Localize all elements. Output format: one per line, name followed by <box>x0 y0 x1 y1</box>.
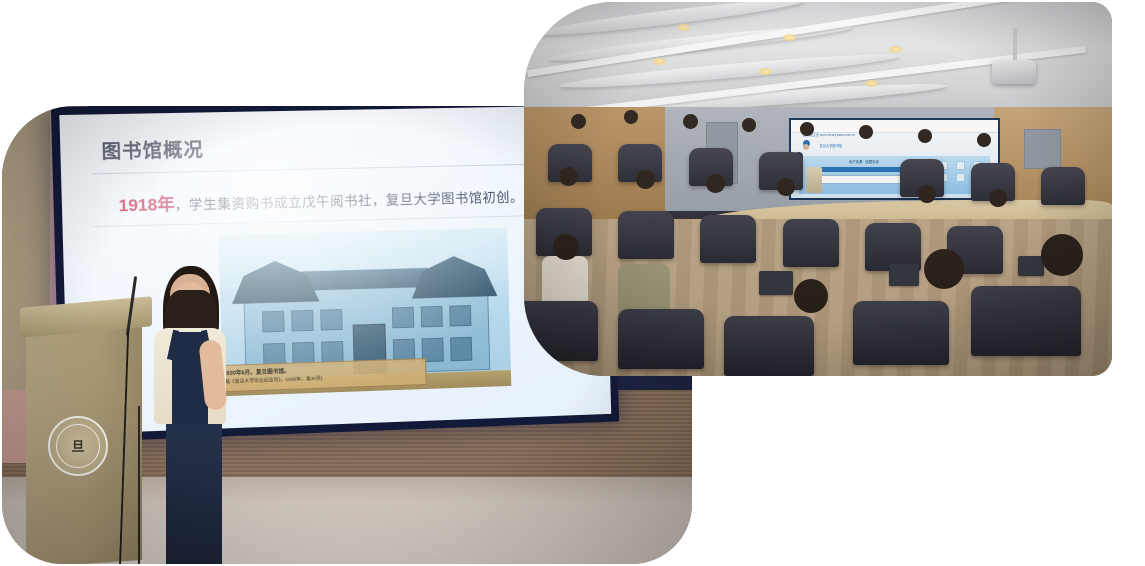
presenter-skirt <box>166 424 222 564</box>
slide-divider-lower <box>93 214 584 227</box>
audience-member <box>977 133 991 147</box>
website-logo-text: 复旦大学图书馆 <box>820 143 842 148</box>
projector-mount <box>1013 28 1017 62</box>
laptop <box>889 264 919 286</box>
audience-member-front-head <box>794 279 828 313</box>
building-window <box>291 310 314 332</box>
auditorium-seat-front <box>524 301 598 361</box>
ceiling-projector <box>992 60 1036 84</box>
audience-member <box>683 114 698 129</box>
auditorium-ceiling <box>524 2 1112 114</box>
ceiling-downlight <box>889 46 902 53</box>
slide-year-highlight: 1918年 <box>118 195 175 216</box>
page-canvas: 图书馆概况 1918年，学生集资购书成立戊午阅书社，复旦大学图书馆初创。 <box>0 0 1145 566</box>
audience-member <box>918 129 932 143</box>
audience-member <box>777 178 795 196</box>
building-window <box>449 305 472 327</box>
presenter <box>140 274 236 564</box>
stage-podium <box>806 167 822 193</box>
building-window <box>421 306 444 328</box>
emblem-glyph: 旦 <box>71 440 84 453</box>
fudan-university-emblem: 旦 <box>48 416 108 476</box>
slide-divider <box>92 163 583 175</box>
auditorium-seat-front <box>724 316 814 376</box>
laptop <box>1018 256 1044 276</box>
audience-member <box>800 122 814 136</box>
historic-library-building-photo: 1930年6月，复旦图书馆。 (载《复旦大学毕业纪念刊》，1930年，第30页) <box>218 228 511 397</box>
website-banner-text: 电子资源 · 馆藏查询 <box>849 159 879 164</box>
building-window <box>320 309 343 331</box>
audience-member <box>742 118 756 132</box>
audience-member <box>559 167 578 186</box>
building-window <box>392 307 415 329</box>
ceiling-downlight <box>865 80 878 87</box>
auditorium-audience-photo: 图书馆主页 www.library.fudan.edu.cn 复旦大学图书馆 电… <box>524 2 1112 376</box>
ceiling-downlight <box>653 58 666 65</box>
auditorium-seat <box>618 211 674 259</box>
audience-member-front-head <box>1041 234 1083 276</box>
website-tile <box>956 161 965 170</box>
audience-member <box>636 170 655 189</box>
auditorium-seat-front <box>853 301 949 365</box>
auditorium-seat-front <box>971 286 1081 356</box>
audience-member-front-head <box>924 249 964 289</box>
audience-member <box>989 189 1007 207</box>
slide-body-text: 1918年，学生集资购书成立戊午阅书社，复旦大学图书馆初创。 <box>118 180 588 216</box>
ceiling-downlight <box>677 24 690 31</box>
website-header-bar <box>791 120 999 134</box>
emblem-ring: 旦 <box>56 424 100 468</box>
wall-panel <box>1024 129 1061 168</box>
building-window <box>262 311 285 333</box>
building-window <box>450 337 473 362</box>
ceiling-downlight <box>783 34 796 41</box>
slide-title: 图书馆概况 <box>101 135 204 164</box>
laptop <box>759 271 793 295</box>
auditorium-seat-front <box>618 309 704 369</box>
website-tile <box>956 173 965 182</box>
slide-body-sentence: ，学生集资购书成立戊午阅书社，复旦大学图书馆初创。 <box>174 190 523 213</box>
auditorium-seat <box>700 215 756 263</box>
auditorium-seat <box>783 219 839 267</box>
auditorium-seat <box>1041 167 1085 205</box>
